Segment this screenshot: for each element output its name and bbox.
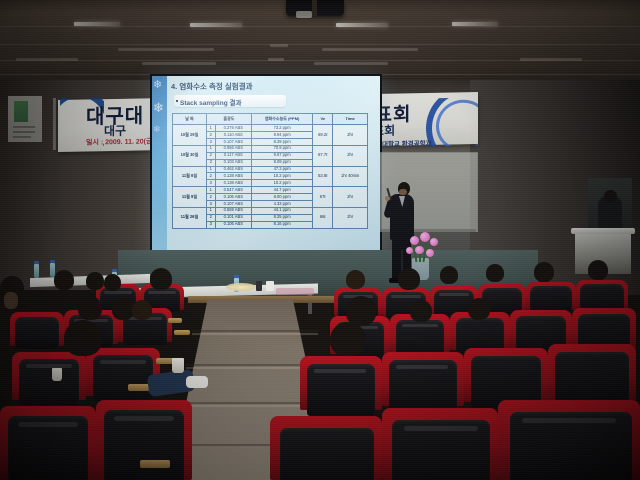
cell-sample-no: 1 bbox=[206, 145, 215, 152]
audience-head bbox=[64, 320, 102, 356]
cell-absorbance: 0.462 ABS bbox=[215, 166, 251, 173]
cell-ppm: 4.33 ppm bbox=[252, 200, 313, 207]
audience-head bbox=[440, 266, 458, 284]
wall-rod bbox=[53, 98, 56, 150]
seat-back bbox=[530, 286, 572, 312]
seated-person-head bbox=[604, 190, 617, 202]
col-concentration: 염화수소농도 (PPM) bbox=[252, 114, 313, 125]
cell-absorbance: 0.101 ABS bbox=[215, 214, 251, 221]
cell-sample-no: 1 bbox=[206, 166, 215, 173]
cell-absorbance: 0.138 ABS bbox=[215, 173, 251, 180]
table-body: 10월 29일10.279 ABS73.2 ppm69.2ℓ2hr20.110 … bbox=[173, 125, 368, 228]
cell-ve: 53.8ℓ bbox=[313, 166, 333, 187]
cell-ve: 66ℓ bbox=[313, 207, 333, 228]
cell-date: 11월 6일 bbox=[173, 166, 207, 187]
cell-absorbance: 0.110 ABS bbox=[215, 132, 251, 139]
col-time: Time bbox=[333, 114, 368, 125]
slide-bullet-text: Stack sampling 결과 bbox=[180, 97, 241, 107]
col-absorbance: 흡광도 bbox=[206, 114, 251, 125]
cell-absorbance: 0.547 ABS bbox=[215, 187, 251, 194]
audience-head bbox=[150, 268, 172, 290]
bullet-dot-icon bbox=[176, 100, 178, 102]
cell-ppm: 8.25 ppm bbox=[252, 214, 313, 221]
water-bottle bbox=[34, 264, 39, 278]
cell-ppm: 9.57 ppm bbox=[252, 152, 313, 159]
cell-ppm: 8.39 ppm bbox=[252, 138, 313, 145]
table-header-row: 날 짜 흡광도 염화수소농도 (PPM) Ve Time bbox=[173, 114, 368, 125]
cell-sample-no: 3 bbox=[206, 200, 215, 207]
cell-date: 11월 26일 bbox=[173, 207, 207, 228]
armrest bbox=[140, 460, 170, 468]
audience-head bbox=[132, 300, 152, 320]
cell-ppm: 10.2 ppm bbox=[252, 180, 313, 187]
audience-head bbox=[54, 270, 74, 290]
cell-absorbance: 0.106 ABS bbox=[215, 221, 251, 228]
audience-head bbox=[78, 296, 102, 320]
table-head: 날 짜 흡광도 염화수소농도 (PPM) Ve Time bbox=[173, 114, 368, 125]
snack-plate bbox=[226, 283, 256, 291]
orchid-bloom bbox=[430, 238, 438, 246]
orchid-bloom bbox=[410, 236, 419, 245]
cell-ppm: 73.2 ppm bbox=[252, 125, 313, 132]
cell-ppm: 8.00 ppm bbox=[252, 194, 313, 201]
snowflake-icon: ❄ bbox=[153, 100, 164, 116]
cell-absorbance: 0.103 ABS bbox=[215, 159, 251, 166]
cell-sample-no: 3 bbox=[206, 138, 215, 145]
table-row: 10월 29일10.279 ABS73.2 ppm69.2ℓ2hr bbox=[173, 125, 368, 132]
cell-ppm: 44.7 ppm bbox=[252, 187, 313, 194]
orchid-bloom bbox=[420, 232, 430, 242]
table-row: 11월 9일10.547 ABS44.7 ppm67ℓ2hr bbox=[173, 187, 368, 194]
cell-ppm: 8.09 ppm bbox=[252, 159, 313, 166]
ceiling-light bbox=[336, 23, 388, 27]
audience-head bbox=[330, 322, 366, 356]
cell-sample-no: 2 bbox=[206, 173, 215, 180]
seat-back bbox=[15, 317, 59, 349]
cell-date: 10월 29일 bbox=[173, 125, 207, 146]
beverage-can bbox=[256, 281, 262, 291]
cell-sample-no: 2 bbox=[206, 194, 215, 201]
cell-date: 11월 9일 bbox=[173, 187, 207, 208]
cell-ve: 67ℓ bbox=[313, 187, 333, 208]
cell-sample-no: 2 bbox=[206, 214, 215, 221]
audience-head bbox=[410, 300, 432, 322]
cell-sample-no: 1 bbox=[206, 207, 215, 214]
paper-cup bbox=[266, 281, 274, 291]
audience-head bbox=[112, 298, 134, 320]
cell-sample-no: 2 bbox=[206, 152, 215, 159]
audience-head bbox=[486, 264, 504, 282]
cell-time: 1hr 40min bbox=[333, 166, 368, 187]
snowflake-icon: ❄ bbox=[153, 124, 161, 135]
cell-absorbance: 0.106 ABS bbox=[215, 194, 251, 201]
table-mat bbox=[276, 288, 314, 295]
ceiling-light bbox=[452, 22, 498, 26]
armrest bbox=[168, 318, 182, 323]
paper-cup bbox=[52, 368, 62, 381]
cell-ppm: 70.9 ppm bbox=[252, 145, 313, 152]
slide-title: 4. 염화수소 측정 실험결과 bbox=[171, 81, 253, 92]
cell-sample-no: 2 bbox=[206, 132, 215, 139]
cell-time: 2hr bbox=[333, 187, 368, 208]
orchid-bloom bbox=[406, 247, 413, 254]
snowflake-icon: ❄ bbox=[153, 78, 162, 91]
cell-absorbance: 0.138 ABS bbox=[215, 180, 251, 187]
ceiling-light bbox=[74, 22, 120, 26]
seat-back bbox=[280, 428, 374, 480]
poster-graphic-icon bbox=[14, 101, 28, 122]
cell-ppm: 10.2 ppm bbox=[252, 173, 313, 180]
projection-screen: ❄ ❄ ❄ 4. 염화수소 측정 실험결과 Stack sampling 결과 … bbox=[150, 74, 382, 258]
cell-time: 2hr bbox=[333, 125, 368, 146]
audience-head bbox=[588, 260, 608, 280]
col-ve: Ve bbox=[313, 114, 333, 125]
cell-date: 10월 30일 bbox=[173, 145, 207, 166]
lectern-top bbox=[571, 228, 635, 234]
presenter-face bbox=[399, 189, 407, 195]
cell-sample-no: 3 bbox=[206, 180, 215, 187]
col-date: 날 짜 bbox=[173, 114, 207, 125]
paper-cup bbox=[172, 358, 184, 373]
cell-absorbance: 0.569 ABS bbox=[215, 207, 251, 214]
cell-ppm: 47.3 ppm bbox=[252, 166, 313, 173]
audience-head bbox=[534, 262, 554, 282]
cell-absorbance: 0.956 ABS bbox=[215, 145, 251, 152]
ceiling-light bbox=[190, 23, 242, 27]
cell-sample-no: 1 bbox=[206, 187, 215, 194]
cell-ppm: 44.1 ppm bbox=[252, 207, 313, 214]
audience-head bbox=[468, 298, 490, 320]
cell-absorbance: 0.117 ABS bbox=[215, 152, 251, 159]
audience-head bbox=[104, 274, 121, 291]
slide-data-table: 날 짜 흡광도 염화수소농도 (PPM) Ve Time 10월 29일10.2… bbox=[172, 113, 368, 229]
slide-surface: ❄ ❄ ❄ 4. 염화수소 측정 실험결과 Stack sampling 결과 … bbox=[152, 76, 380, 256]
auditorium-photo: 대구대 대구 일시 : 2009. 11. 20(금) 발표회 발표회 대구대학… bbox=[0, 0, 640, 480]
seat-back bbox=[555, 352, 629, 406]
table-row: 10월 30일10.956 ABS70.9 ppm67.7ℓ2hr bbox=[173, 145, 368, 152]
cell-absorbance: 0.107 ABS bbox=[215, 200, 251, 207]
armrest bbox=[174, 330, 190, 335]
audience-head bbox=[86, 272, 104, 290]
table-row: 11월 6일10.462 ABS47.3 ppm53.8ℓ1hr 40min bbox=[173, 166, 368, 173]
cell-time: 2hr bbox=[333, 145, 368, 166]
orchid-bloom bbox=[415, 246, 424, 254]
orchid-bloom bbox=[426, 249, 434, 257]
audience-head bbox=[346, 270, 365, 289]
table-row: 11월 26일10.569 ABS44.1 ppm66ℓ2hr bbox=[173, 207, 368, 214]
cell-ve: 67.7ℓ bbox=[313, 145, 333, 166]
cell-time: 2hr bbox=[333, 207, 368, 228]
cell-absorbance: 0.279 ABS bbox=[215, 125, 251, 132]
cell-ppm: 8.94 ppm bbox=[252, 132, 313, 139]
cell-sample-no: 3 bbox=[206, 159, 215, 166]
presenter-hand bbox=[385, 196, 390, 201]
cell-ve: 69.2ℓ bbox=[313, 125, 333, 146]
audience-head bbox=[398, 268, 420, 290]
banner-date: 일시 : 2009. 11. 20(금) bbox=[86, 136, 155, 147]
cell-ppm: 8.16 ppm bbox=[252, 221, 313, 228]
cell-absorbance: 0.107 ABS bbox=[215, 138, 251, 145]
projector-lens-icon bbox=[296, 11, 312, 18]
cell-sample-no: 3 bbox=[206, 221, 215, 228]
cell-sample-no: 1 bbox=[206, 125, 215, 132]
audience-shoe bbox=[186, 376, 208, 388]
